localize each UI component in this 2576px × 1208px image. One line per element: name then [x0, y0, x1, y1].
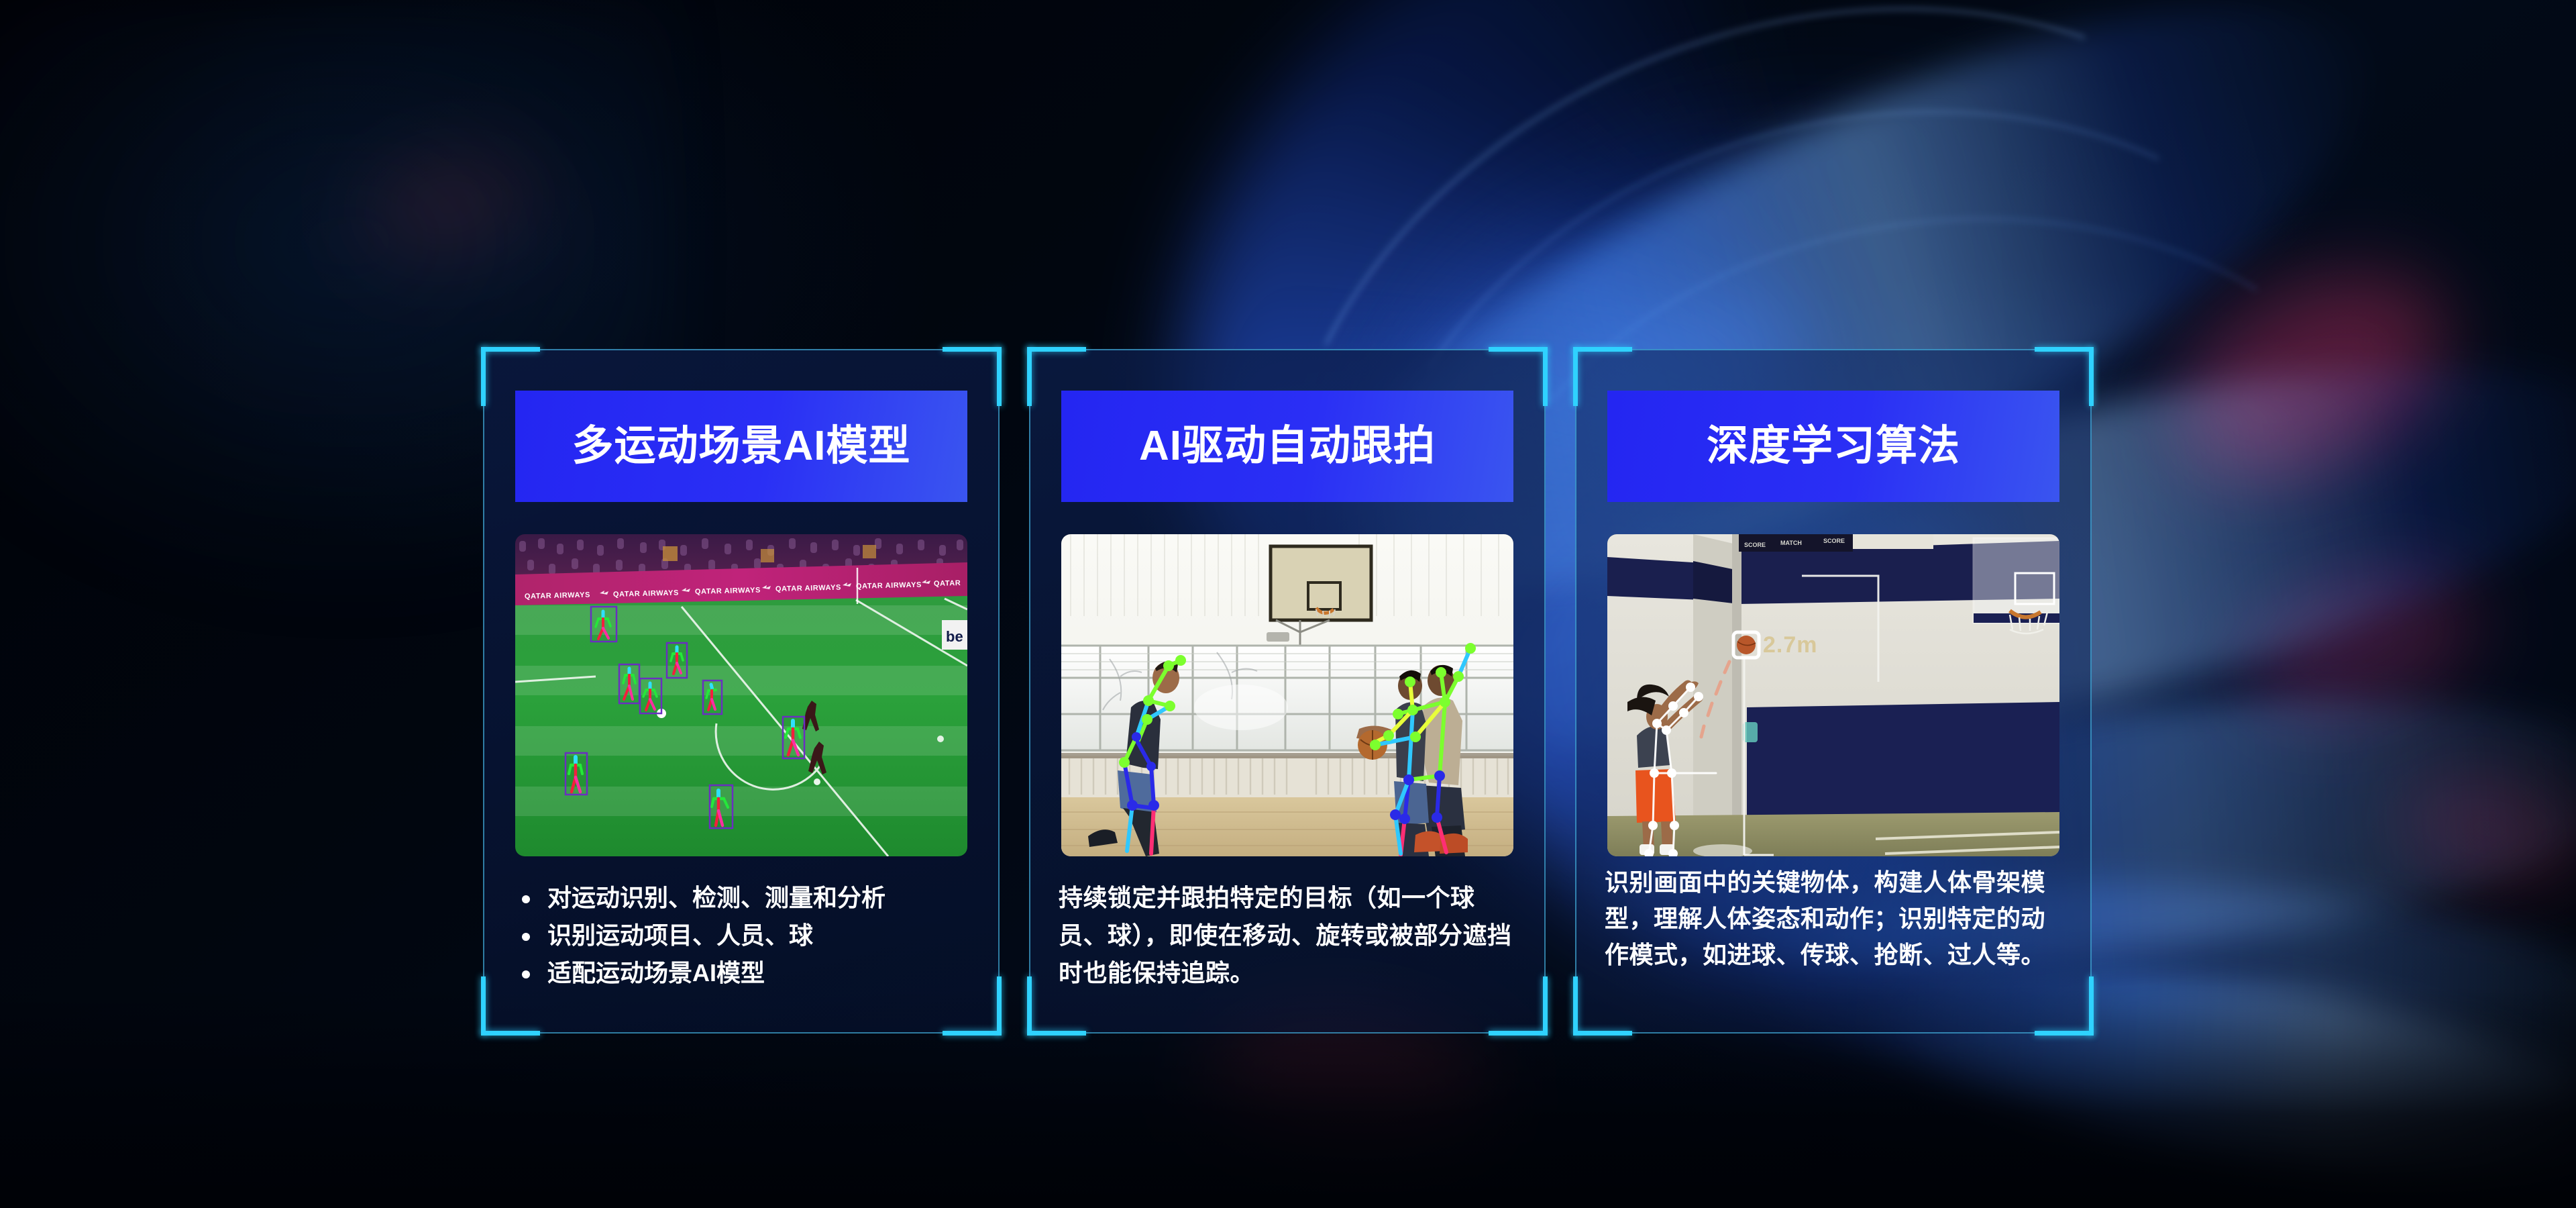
background-warm-accent-5 — [2379, 752, 2576, 906]
svg-text:2.7m: 2.7m — [1763, 632, 1818, 658]
card-title: AI驱动自动跟拍 — [1139, 425, 1436, 467]
card-description: 识别画面中的关键物体，构建人体骨架模型，理解人体姿态和动作；识别特定的动作模式，… — [1605, 864, 2065, 973]
basketball-shot-measurement-thumbnail[interactable]: SCORE MATCH SCORE — [1607, 534, 2059, 856]
background-warm-accent-1 — [2143, 231, 2479, 520]
svg-text:QATAR AIRWAYS: QATAR AIRWAYS — [775, 584, 841, 593]
svg-text:MATCH: MATCH — [1780, 540, 1802, 546]
list-item: 识别运动项目、人员、球 — [513, 917, 973, 954]
card-description: 持续锁定并跟拍特定的目标（如一个球员、球），即使在移动、旋转或被部分遮挡时也能保… — [1059, 879, 1519, 992]
background-warm-accent-2 — [2226, 543, 2497, 745]
list-item: 适配运动场景AI模型 — [513, 954, 973, 992]
card-title-banner: 多运动场景AI模型 — [515, 391, 967, 502]
svg-text:QATAR AIRWAYS: QATAR AIRWAYS — [525, 591, 590, 601]
card-title: 多运动场景AI模型 — [572, 425, 910, 467]
feature-bullet-list: 对运动识别、检测、测量和分析 识别运动项目、人员、球 适配运动场景AI模型 — [513, 879, 973, 992]
svg-text:QATAR AIRWAYS: QATAR AIRWAYS — [856, 581, 922, 591]
card-body: 持续锁定并跟拍特定的目标（如一个球员、球），即使在移动、旋转或被部分遮挡时也能保… — [1059, 879, 1519, 992]
card-title-banner: AI驱动自动跟拍 — [1061, 391, 1513, 502]
svg-text:QATAR AIRWAYS: QATAR AIRWAYS — [613, 589, 679, 599]
feature-card-ai-auto-tracking-shot[interactable]: AI驱动自动跟拍 — [1029, 349, 1546, 1034]
slide-stage: 多运动场景AI模型 — [0, 0, 2576, 1208]
feature-card-row: 多运动场景AI模型 — [483, 349, 2093, 1034]
feature-card-multi-sport-ai-model[interactable]: 多运动场景AI模型 — [483, 349, 1000, 1034]
svg-text:SCORE: SCORE — [1744, 542, 1766, 548]
card-title-banner: 深度学习算法 — [1607, 391, 2059, 502]
soccer-pose-detection-thumbnail[interactable]: QATAR AIRWAYS QATAR AIRWAYS QATAR AIRWAY… — [515, 534, 967, 856]
card-body: 对运动识别、检测、测量和分析 识别运动项目、人员、球 适配运动场景AI模型 — [513, 879, 973, 992]
background-warm-accent-4 — [355, 140, 544, 270]
svg-text:SCORE: SCORE — [1823, 538, 1845, 544]
card-title: 深度学习算法 — [1707, 425, 1960, 467]
svg-text:be: be — [946, 628, 963, 645]
svg-text:QATAR AIRWAYS: QATAR AIRWAYS — [695, 587, 761, 596]
feature-card-deep-learning-algorithm[interactable]: 深度学习算法 — [1575, 349, 2092, 1034]
basketball-gym-pose-tracking-thumbnail[interactable] — [1061, 534, 1513, 856]
list-item: 对运动识别、检测、测量和分析 — [513, 879, 973, 917]
card-body: 识别画面中的关键物体，构建人体骨架模型，理解人体姿态和动作；识别特定的动作模式，… — [1605, 864, 2065, 973]
svg-text:QATAR: QATAR — [934, 579, 961, 588]
